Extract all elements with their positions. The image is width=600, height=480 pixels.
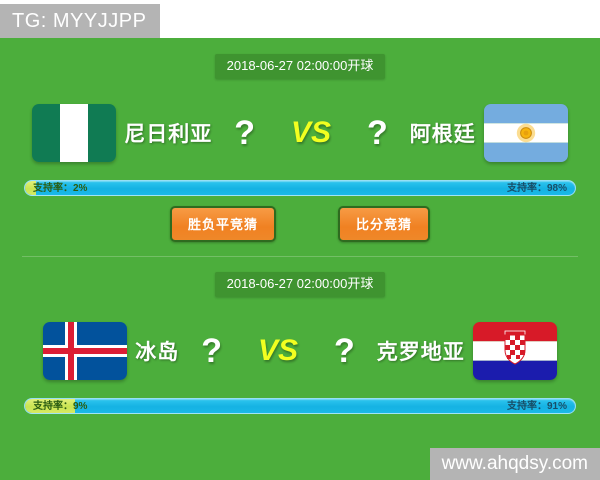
kickoff-row: 2018-06-27 02:00:00开球 [0,272,600,298]
vs-label: VS [236,336,320,366]
home-team-name: 尼日利亚 [116,118,220,148]
support-bar: 支持率：2% 支持率：98% [24,180,576,196]
away-team-name: 阿根廷 [402,118,484,148]
away-support-label: 支持率：98% [507,181,567,196]
win-draw-lose-bet-button[interactable]: 胜负平竞猜 [170,206,276,242]
away-support-label: 支持率：91% [507,399,567,414]
score-bet-button[interactable]: 比分竞猜 [338,206,430,242]
support-bar: 支持率：9% 支持率：91% [24,398,576,414]
away-team-name: 克罗地亚 [369,336,473,366]
nigeria-flag [32,104,116,162]
match-card: 2018-06-27 02:00:00开球 尼日利亚 ? VS [0,38,600,256]
argentina-flag [484,104,568,162]
match-board: 2018-06-27 02:00:00开球 尼日利亚 ? VS [0,38,600,480]
home-score: ? [187,334,236,368]
away-side: ? 阿根廷 [353,96,568,170]
teams-row: 冰岛 ? VS ? 克罗地亚 [0,314,600,388]
croatia-flag [473,322,557,380]
home-side: 尼日利亚 ? [32,96,269,170]
kickoff-row: 2018-06-27 02:00:00开球 [0,54,600,80]
bet-button-row: 胜负平竞猜 比分竞猜 [0,206,600,242]
match-divider [22,256,578,257]
away-score: ? [353,116,402,150]
home-support-label: 支持率：2% [33,181,87,196]
home-team-name: 冰岛 [127,336,187,366]
kickoff-badge: 2018-06-27 02:00:00开球 [215,54,386,79]
site-watermark: www.ahqdsy.com [430,448,600,480]
iceland-flag [43,322,127,380]
home-side: 冰岛 ? [43,314,236,388]
tg-tag: TG: MYYJJPP [0,4,160,38]
away-score: ? [320,334,369,368]
home-support-label: 支持率：9% [33,399,87,414]
away-side: ? 克罗地亚 [320,314,557,388]
teams-row: 尼日利亚 ? VS ? 阿根廷 [0,96,600,170]
kickoff-badge: 2018-06-27 02:00:00开球 [215,272,386,297]
match-card: 2018-06-27 02:00:00开球 冰岛 ? [0,256,600,480]
vs-label: VS [269,118,353,148]
home-score: ? [220,116,269,150]
app-root: TG: MYYJJPP 2018-06-27 02:00:00开球 尼日利亚 [0,0,600,480]
